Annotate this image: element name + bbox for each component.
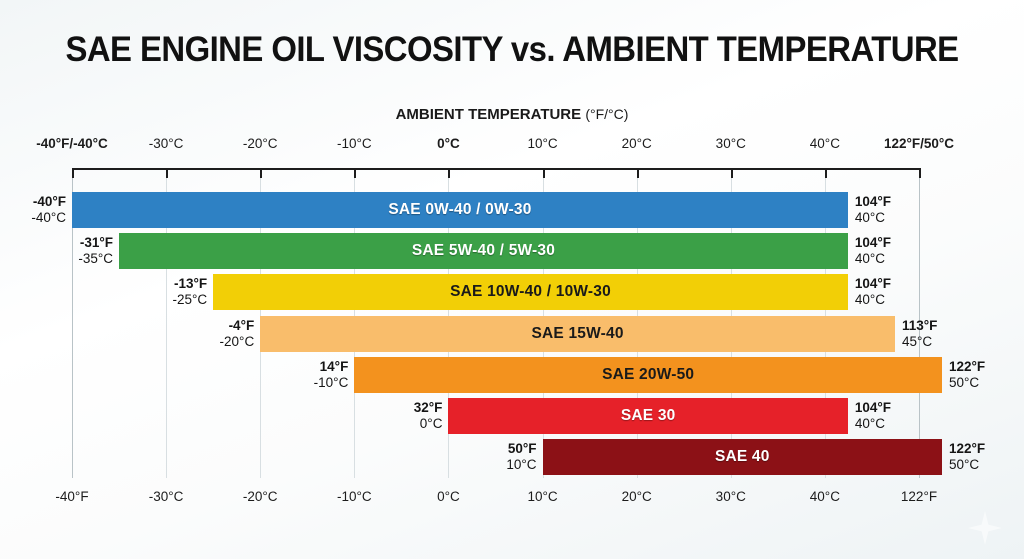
- bar-start-celsius: -35°C: [78, 251, 113, 267]
- bar-end-temperature: 122°F50°C: [949, 356, 985, 394]
- bottom-tick-label: -20°C: [243, 489, 278, 504]
- bar-end-fahrenheit: 104°F: [855, 235, 891, 251]
- viscosity-bar[interactable]: SAE 15W-40: [260, 316, 895, 352]
- viscosity-bar[interactable]: SAE 40: [543, 439, 942, 475]
- bar-start-celsius: -25°C: [172, 292, 207, 308]
- bar-end-temperature: 104°F40°C: [855, 273, 891, 311]
- viscosity-bar[interactable]: SAE 10W-40 / 10W-30: [213, 274, 848, 310]
- bar-end-celsius: 50°C: [949, 457, 979, 473]
- bottom-tick-label: -40°F: [55, 489, 88, 504]
- top-axis-ticks: -40°F/-40°C-30°C-20°C-10°C0°C10°C20°C30°…: [0, 136, 1024, 154]
- page-title: SAE ENGINE OIL VISCOSITY vs. AMBIENT TEM…: [31, 30, 994, 70]
- bar-end-celsius: 45°C: [902, 334, 932, 350]
- bar-label: SAE 0W-40 / 0W-30: [388, 201, 531, 219]
- bar-end-fahrenheit: 122°F: [949, 441, 985, 457]
- bar-end-fahrenheit: 104°F: [855, 400, 891, 416]
- bar-start-celsius: -10°C: [314, 375, 349, 391]
- bar-row: SAE 20W-5014°F-10°C122°F50°C: [0, 357, 1024, 393]
- bar-end-fahrenheit: 113°F: [902, 318, 937, 334]
- top-tick-label: -30°C: [149, 136, 184, 151]
- bottom-tick-label: 20°C: [622, 489, 652, 504]
- bar-end-fahrenheit: 104°F: [855, 276, 891, 292]
- top-tick-label: 10°C: [527, 136, 557, 151]
- bar-row: SAE 3032°F0°C104°F40°C: [0, 398, 1024, 434]
- viscosity-bar[interactable]: SAE 5W-40 / 5W-30: [119, 233, 848, 269]
- axis-title: AMBIENT TEMPERATURE (°F/°C): [0, 106, 1024, 123]
- bar-end-celsius: 40°C: [855, 210, 885, 226]
- top-tick-label: -10°C: [337, 136, 372, 151]
- bar-start-celsius: 10°C: [506, 457, 536, 473]
- bar-end-temperature: 104°F40°C: [855, 397, 891, 435]
- viscosity-bar[interactable]: SAE 30: [448, 398, 847, 434]
- bar-start-fahrenheit: -4°F: [229, 318, 255, 334]
- bar-end-celsius: 50°C: [949, 375, 979, 391]
- top-tick-label: 40°C: [810, 136, 840, 151]
- bar-start-temperature: -31°F-35°C: [0, 232, 113, 270]
- bar-start-celsius: 0°C: [420, 416, 443, 432]
- axis-top-rule: [72, 168, 920, 170]
- bar-label: SAE 5W-40 / 5W-30: [412, 242, 555, 260]
- top-tick-label: 20°C: [622, 136, 652, 151]
- bar-row: SAE 4050°F10°C122°F50°C: [0, 439, 1024, 475]
- bottom-tick-label: 40°C: [810, 489, 840, 504]
- bottom-tick-label: 122°F: [901, 489, 937, 504]
- bar-end-celsius: 40°C: [855, 292, 885, 308]
- bar-end-temperature: 113°F45°C: [902, 315, 937, 353]
- bar-end-temperature: 104°F40°C: [855, 232, 891, 270]
- bar-start-temperature: 32°F0°C: [0, 397, 442, 435]
- bottom-tick-label: -30°C: [149, 489, 184, 504]
- bar-start-temperature: -4°F-20°C: [0, 315, 254, 353]
- top-tick-label: 30°C: [716, 136, 746, 151]
- bar-row: SAE 10W-40 / 10W-30-13°F-25°C104°F40°C: [0, 274, 1024, 310]
- bar-start-temperature: -40°F-40°C: [0, 191, 66, 229]
- bar-label: SAE 15W-40: [532, 325, 624, 343]
- bar-start-fahrenheit: 50°F: [508, 441, 537, 457]
- bar-start-fahrenheit: -13°F: [174, 276, 207, 292]
- bar-start-temperature: 50°F10°C: [0, 438, 537, 476]
- top-tick-label: -20°C: [243, 136, 278, 151]
- top-tick-label: -40°F/-40°C: [36, 136, 108, 151]
- bar-start-fahrenheit: -31°F: [80, 235, 113, 251]
- bar-end-temperature: 122°F50°C: [949, 438, 985, 476]
- bar-end-celsius: 40°C: [855, 251, 885, 267]
- viscosity-bar[interactable]: SAE 0W-40 / 0W-30: [72, 192, 848, 228]
- bar-start-fahrenheit: 14°F: [320, 359, 349, 375]
- bottom-tick-label: 30°C: [716, 489, 746, 504]
- bottom-axis-ticks: -40°F-30°C-20°C-10°C0°C10°C20°C30°C40°C1…: [0, 489, 1024, 507]
- axis-title-unit: (°F/°C): [585, 106, 628, 122]
- chart-plot-area: SAE 0W-40 / 0W-30-40°F-40°C104°F40°CSAE …: [0, 168, 1024, 478]
- bar-row: SAE 0W-40 / 0W-30-40°F-40°C104°F40°C: [0, 192, 1024, 228]
- bar-label: SAE 20W-50: [602, 366, 694, 384]
- bottom-tick-label: 0°C: [437, 489, 460, 504]
- bar-start-fahrenheit: -40°F: [33, 194, 66, 210]
- bar-start-celsius: -20°C: [220, 334, 255, 350]
- bar-label: SAE 40: [715, 448, 770, 466]
- bottom-tick-label: 10°C: [527, 489, 557, 504]
- top-tick-label: 122°F/50°C: [884, 136, 954, 151]
- bar-start-fahrenheit: 32°F: [414, 400, 443, 416]
- bar-label: SAE 10W-40 / 10W-30: [450, 283, 611, 301]
- bar-row: SAE 5W-40 / 5W-30-31°F-35°C104°F40°C: [0, 233, 1024, 269]
- bottom-tick-label: -10°C: [337, 489, 372, 504]
- bar-label: SAE 30: [621, 407, 676, 425]
- sparkle-decoration: [968, 511, 1002, 545]
- bar-end-fahrenheit: 104°F: [855, 194, 891, 210]
- top-tick-label: 0°C: [437, 136, 460, 151]
- bar-start-temperature: 14°F-10°C: [0, 356, 348, 394]
- bar-start-temperature: -13°F-25°C: [0, 273, 207, 311]
- bar-start-celsius: -40°C: [31, 210, 66, 226]
- bar-end-temperature: 104°F40°C: [855, 191, 891, 229]
- viscosity-bar[interactable]: SAE 20W-50: [354, 357, 942, 393]
- axis-title-text: AMBIENT TEMPERATURE: [396, 106, 582, 123]
- bar-end-fahrenheit: 122°F: [949, 359, 985, 375]
- bar-row: SAE 15W-40-4°F-20°C113°F45°C: [0, 316, 1024, 352]
- bar-end-celsius: 40°C: [855, 416, 885, 432]
